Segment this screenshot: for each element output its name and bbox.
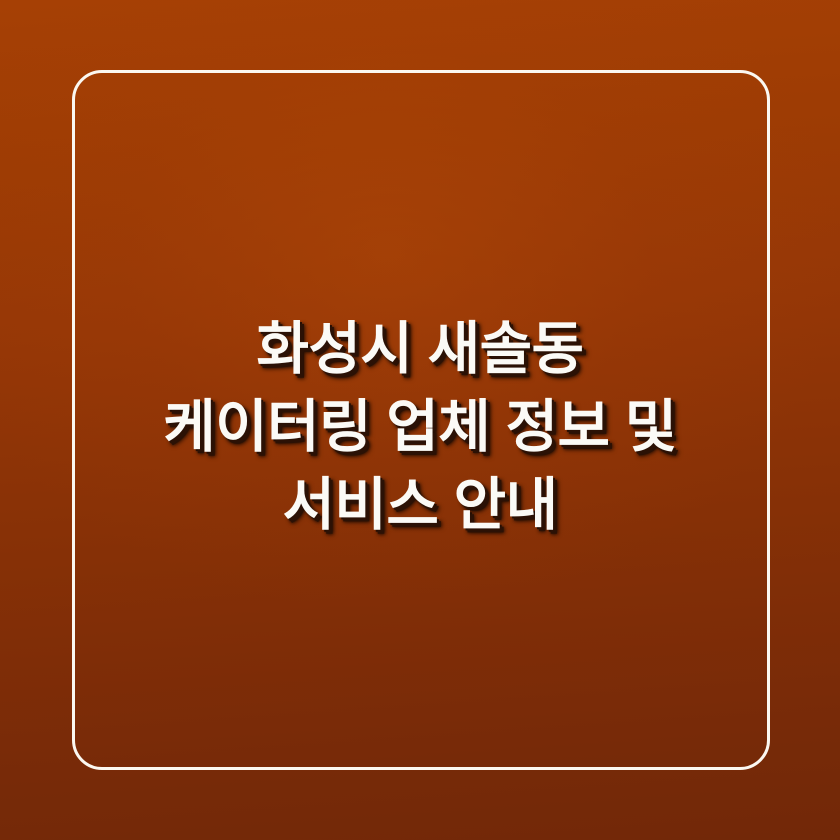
poster-canvas: 화성시 새솔동 케이터링 업체 정보 및 서비스 안내 [0, 0, 840, 840]
title-block: 화성시 새솔동 케이터링 업체 정보 및 서비스 안내 [0, 0, 840, 840]
title-line-2: 케이터링 업체 정보 및 [0, 388, 840, 466]
title-line-3: 서비스 안내 [0, 466, 840, 544]
title-line-1: 화성시 새솔동 [0, 310, 840, 388]
